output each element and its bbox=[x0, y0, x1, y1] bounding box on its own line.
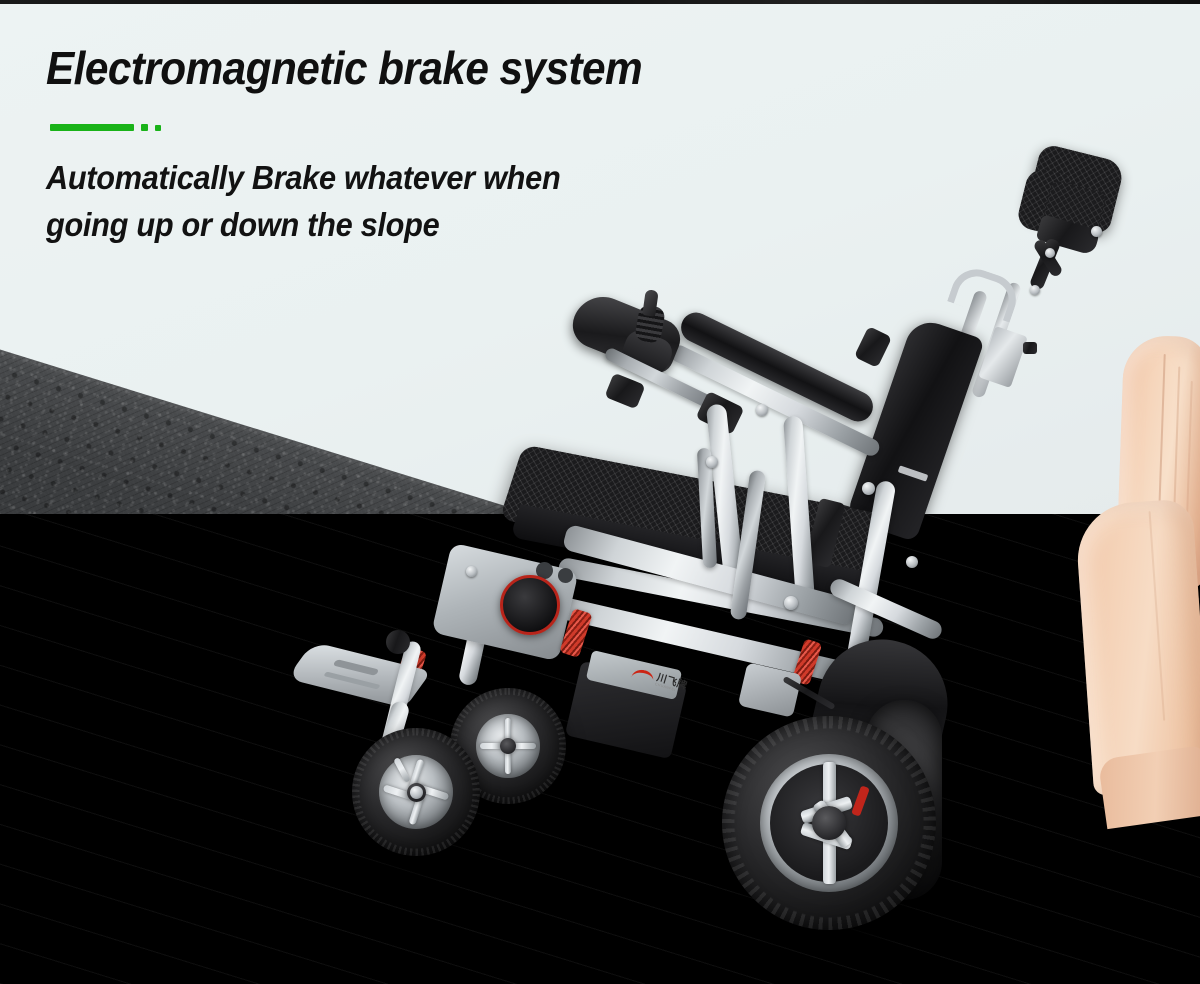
rim-hub bbox=[812, 806, 846, 840]
frame-bolt bbox=[784, 596, 798, 610]
backrest-knob bbox=[1023, 342, 1037, 354]
accent-divider bbox=[50, 124, 694, 131]
frame-bolt bbox=[906, 556, 918, 568]
accent-dot bbox=[155, 125, 161, 131]
subtitle-line-1: Automatically Brake whatever when bbox=[46, 155, 649, 202]
caster-rim bbox=[476, 714, 540, 778]
marketing-copy-block: Electromagnetic brake system Automatical… bbox=[46, 44, 694, 249]
top-edge-band bbox=[0, 0, 1200, 4]
backrest-frame-top-curve bbox=[947, 262, 1023, 322]
rear-drive-wheel-near bbox=[722, 716, 936, 930]
drive-wheel-rim bbox=[760, 754, 898, 892]
frame-bolt bbox=[466, 566, 477, 577]
caster-swivel-cap bbox=[386, 630, 410, 654]
frame-bolt bbox=[862, 482, 875, 495]
rim-spoke bbox=[393, 757, 411, 783]
backrest-mount-block bbox=[978, 326, 1028, 388]
headrest-bolt bbox=[1091, 226, 1102, 237]
product-feature-poster: 川飞牌 CHUANFEI bbox=[0, 0, 1200, 984]
accent-bar bbox=[50, 124, 134, 131]
frame-bolt bbox=[756, 404, 768, 416]
headrest-bolt bbox=[1030, 285, 1040, 295]
frame-bolt bbox=[706, 456, 718, 468]
reflector-cap bbox=[500, 575, 560, 635]
armrest-clamp-rear bbox=[854, 326, 892, 368]
accent-dot bbox=[141, 124, 148, 131]
subtitle-line-2: going up or down the slope bbox=[46, 202, 649, 249]
joystick-mount-clamp bbox=[604, 373, 645, 410]
rim-hub bbox=[500, 738, 516, 754]
headrest-bolt bbox=[1045, 248, 1055, 258]
subtitle: Automatically Brake whatever when going … bbox=[46, 155, 649, 249]
page-title: Electromagnetic brake system bbox=[46, 44, 642, 92]
caster-axle-bolt bbox=[410, 786, 423, 799]
